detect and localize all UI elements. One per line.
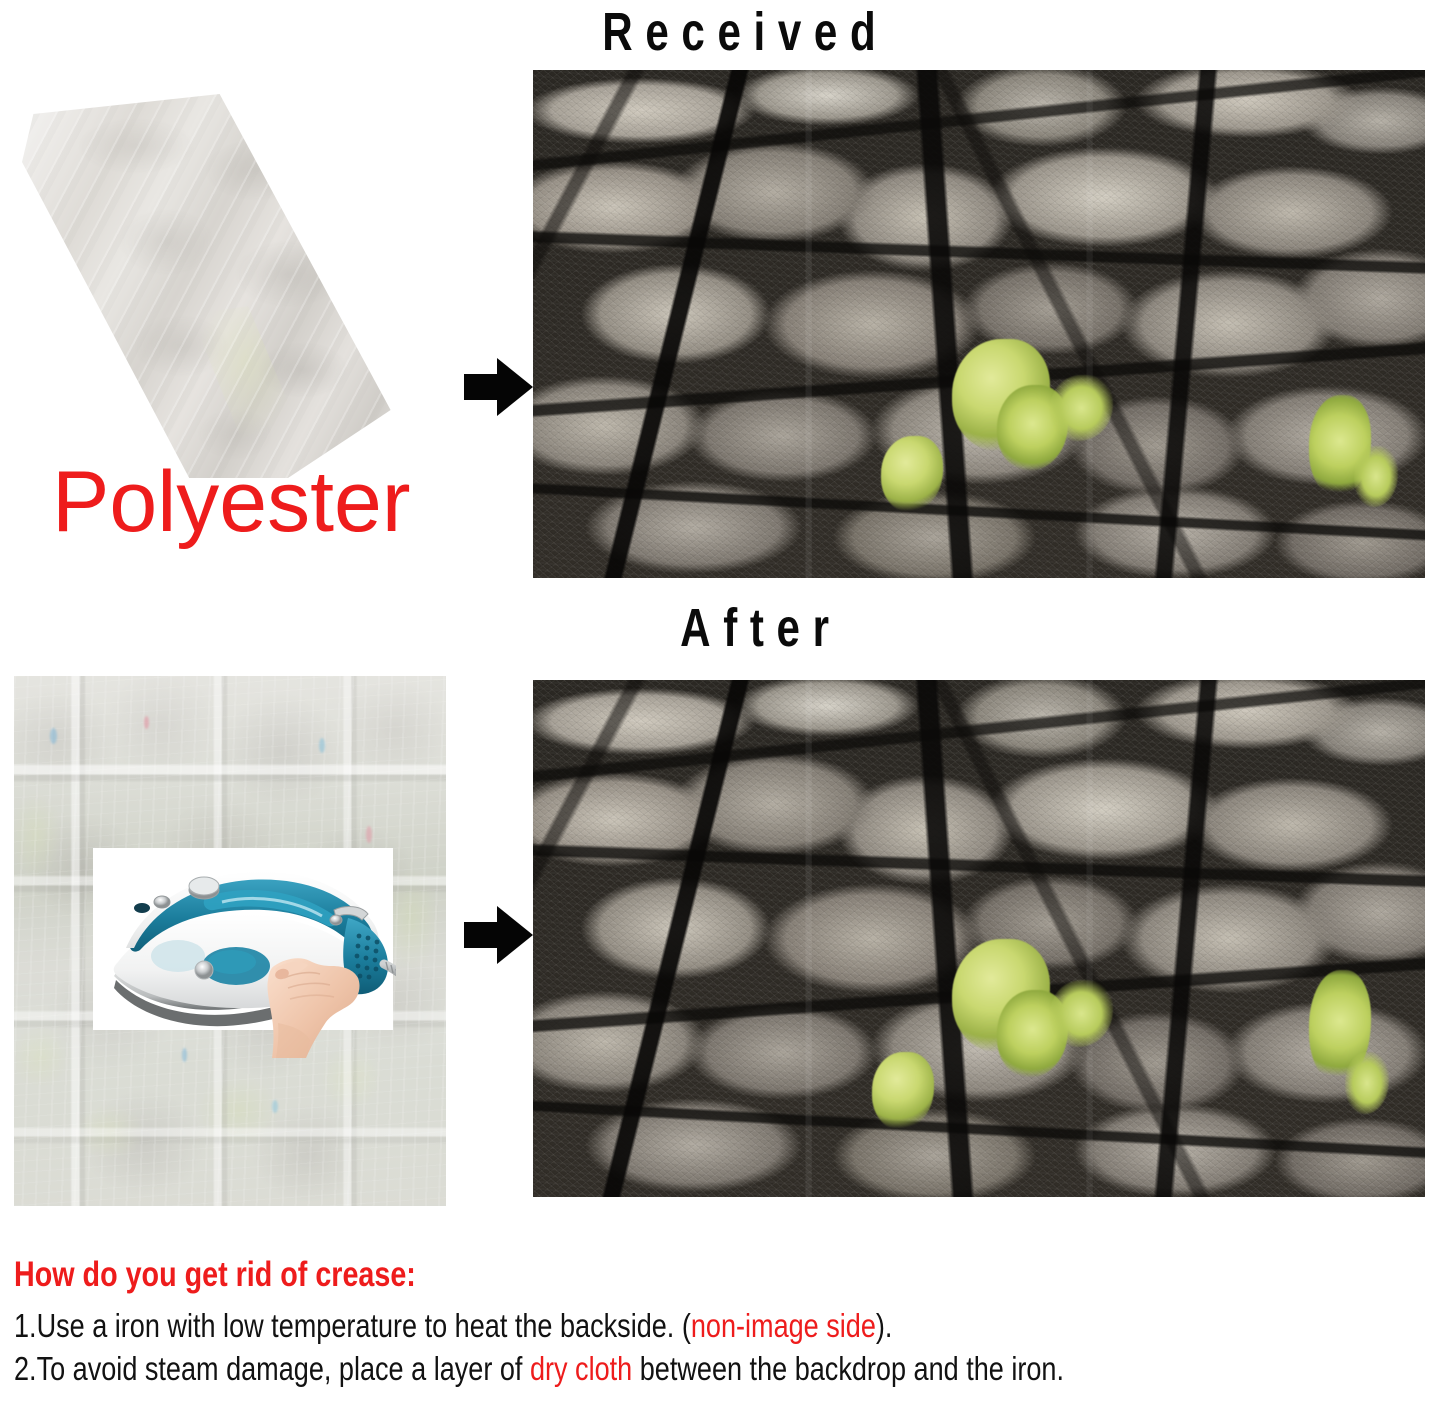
received-rock-photo bbox=[533, 70, 1425, 578]
instruction-2-part-3: between the backdrop and the iron. bbox=[632, 1350, 1064, 1387]
iron-cord-bushing bbox=[330, 915, 342, 925]
right-arrow-icon-top bbox=[464, 358, 536, 416]
iron-temperature-dial-top[interactable] bbox=[189, 877, 219, 895]
iron-belly-vent-inner bbox=[208, 950, 256, 974]
steam-iron-with-hand-illustration bbox=[96, 858, 396, 1058]
instructions-title: How do you get rid of crease: bbox=[14, 1254, 1172, 1296]
instruction-2-part-1: To avoid steam damage, place a layer of bbox=[37, 1350, 530, 1387]
polyester-label: Polyester bbox=[52, 456, 411, 548]
right-arrow-icon-bottom bbox=[464, 906, 536, 964]
iron-spray-nozzle bbox=[134, 903, 150, 913]
instruction-2-number: 2. bbox=[14, 1350, 37, 1387]
instruction-item-1: 1.Use a iron with low temperature to hea… bbox=[14, 1305, 1172, 1346]
after-rock-photo bbox=[533, 680, 1425, 1197]
folded-polyester-fabric bbox=[22, 82, 402, 482]
instruction-item-2: 2.To avoid steam damage, place a layer o… bbox=[14, 1348, 1172, 1389]
iron-spray-button[interactable] bbox=[195, 961, 213, 979]
instructions-block: How do you get rid of crease: 1.Use a ir… bbox=[14, 1254, 1426, 1391]
instruction-1-number: 1. bbox=[14, 1307, 37, 1344]
iron-steam-button[interactable] bbox=[154, 896, 170, 908]
hand-illustration bbox=[267, 958, 359, 1058]
infographic-stage: Received Polyester After bbox=[0, 0, 1436, 1401]
instruction-1-highlight: non-image side bbox=[691, 1307, 876, 1344]
received-heading: Received bbox=[158, 2, 1278, 62]
instruction-2-highlight: dry cloth bbox=[530, 1350, 632, 1387]
instruction-1-part-3: ). bbox=[876, 1307, 893, 1344]
after-heading: After bbox=[158, 598, 1278, 658]
instruction-1-part-1: Use a iron with low temperature to heat … bbox=[37, 1307, 691, 1344]
fabric-fold-highlights bbox=[22, 82, 402, 482]
